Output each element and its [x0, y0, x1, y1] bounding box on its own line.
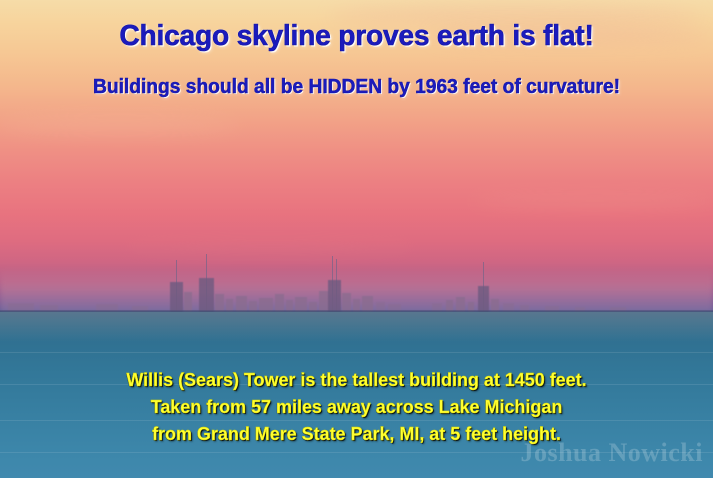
photographer-watermark: Joshua Nowicki: [520, 438, 703, 468]
water-ripple: [0, 352, 713, 353]
meme-title: Chicago skyline proves earth is flat!: [11, 20, 703, 53]
meme-image: Chicago skyline proves earth is flat! Bu…: [0, 0, 713, 478]
water-shimmer: [0, 312, 713, 342]
caption-line-2: Taken from 57 miles away across Lake Mic…: [11, 393, 703, 420]
cloud-streak-icon: [0, 118, 240, 132]
caption-line-1: Willis (Sears) Tower is the tallest buil…: [11, 366, 703, 393]
cloud-streak-icon: [470, 196, 713, 206]
meme-caption: Willis (Sears) Tower is the tallest buil…: [11, 366, 703, 447]
chicago-skyline-silhouette: [0, 252, 713, 312]
meme-subtitle: Buildings should all be HIDDEN by 1963 f…: [14, 76, 698, 99]
cloud-streak-icon: [120, 240, 420, 252]
